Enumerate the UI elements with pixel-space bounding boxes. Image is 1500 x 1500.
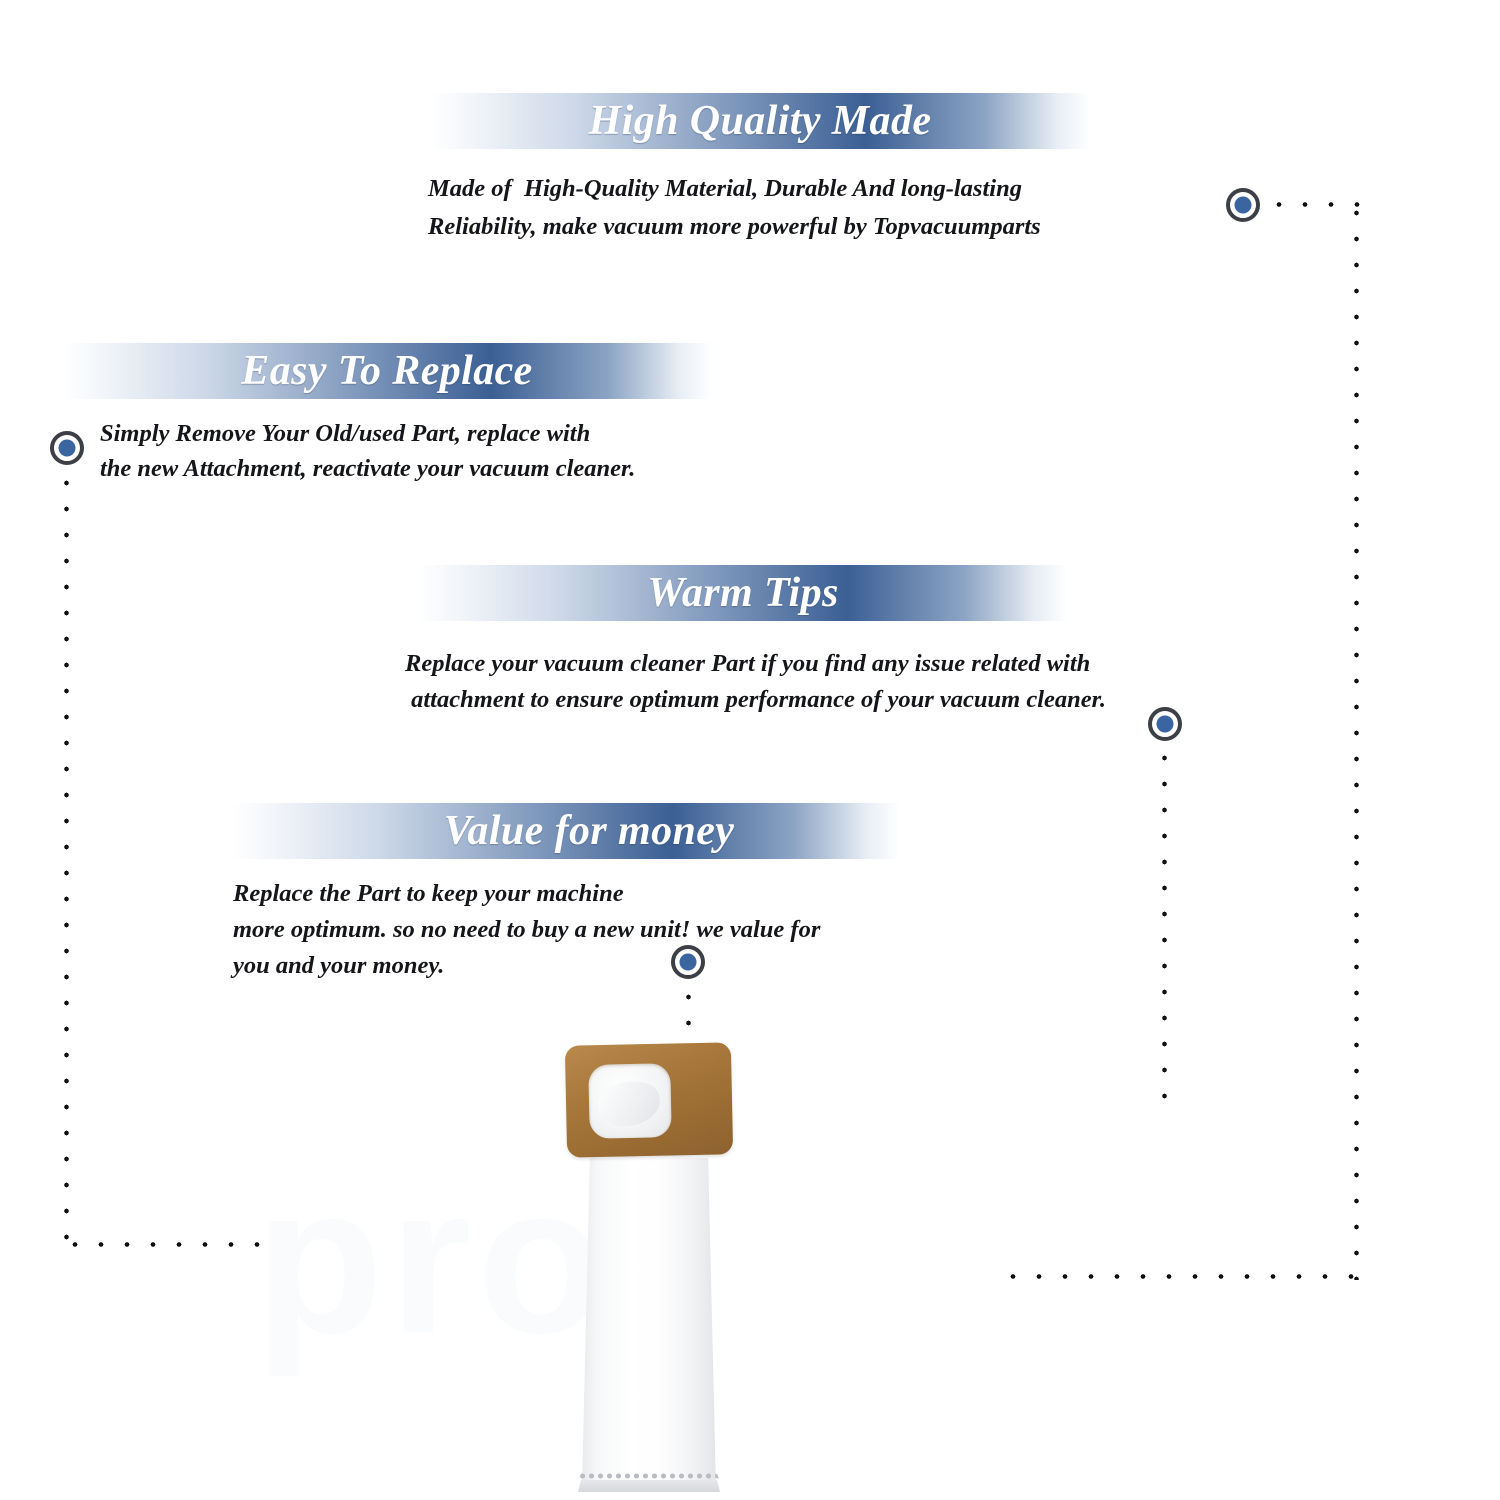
section-body-easy-to-replace-line-1: Simply Remove Your Old/used Part, replac… — [100, 415, 590, 453]
connector-dots-high-quality-horizontal — [1266, 200, 1362, 209]
section-title-high-quality-made: High Quality Made — [430, 97, 1090, 145]
section-body-warm-tips-line-2: attachment to ensure optimum performance… — [405, 681, 1106, 719]
callout-marker-warm-tips[interactable] — [1148, 707, 1182, 741]
callout-marker-high-quality-made[interactable] — [1226, 188, 1260, 222]
product-image-vacuum-bag — [540, 1030, 760, 1500]
section-body-warm-tips-line-1: Replace your vacuum cleaner Part if you … — [405, 645, 1090, 683]
banner-warm-tips: Warm Tips — [418, 565, 1068, 621]
connector-dots-bottom-right-horizontal — [1000, 1272, 1360, 1281]
connector-dots-right-vertical — [1352, 200, 1361, 1280]
banner-easy-to-replace: Easy To Replace — [62, 343, 712, 399]
banner-high-quality-made: High Quality Made — [430, 93, 1090, 149]
vacuum-bag-body — [582, 1150, 716, 1488]
section-body-value-for-money-line-2: more optimum. so no need to buy a new un… — [233, 911, 820, 949]
connector-dots-bottom-left-horizontal — [62, 1240, 267, 1249]
vacuum-bag-bottom-edge — [578, 1480, 720, 1492]
section-title-value-for-money: Value for money — [232, 807, 900, 855]
section-title-warm-tips: Warm Tips — [418, 569, 1068, 617]
section-body-easy-to-replace-line-2: the new Attachment, reactivate your vacu… — [100, 450, 635, 488]
section-title-easy-to-replace: Easy To Replace — [62, 347, 712, 395]
callout-marker-value-for-money[interactable] — [671, 945, 705, 979]
section-body-high-quality-made-line-2: Reliability, make vacuum more powerful b… — [428, 208, 1041, 246]
callout-marker-easy-to-replace[interactable] — [50, 431, 84, 465]
infographic-canvas: pro High Quality Made Made of High-Quali… — [0, 0, 1500, 1500]
connector-dots-value-for-money-vertical — [684, 984, 693, 1030]
connector-dots-warm-tips-vertical — [1160, 745, 1169, 1115]
section-body-value-for-money-line-3: you and your money. — [233, 947, 444, 985]
banner-value-for-money: Value for money — [232, 803, 900, 859]
connector-dots-left-vertical — [62, 470, 71, 1248]
section-body-high-quality-made-line-1: Made of High-Quality Material, Durable A… — [428, 170, 1022, 208]
section-body-value-for-money-line-1: Replace the Part to keep your machine — [233, 875, 624, 913]
